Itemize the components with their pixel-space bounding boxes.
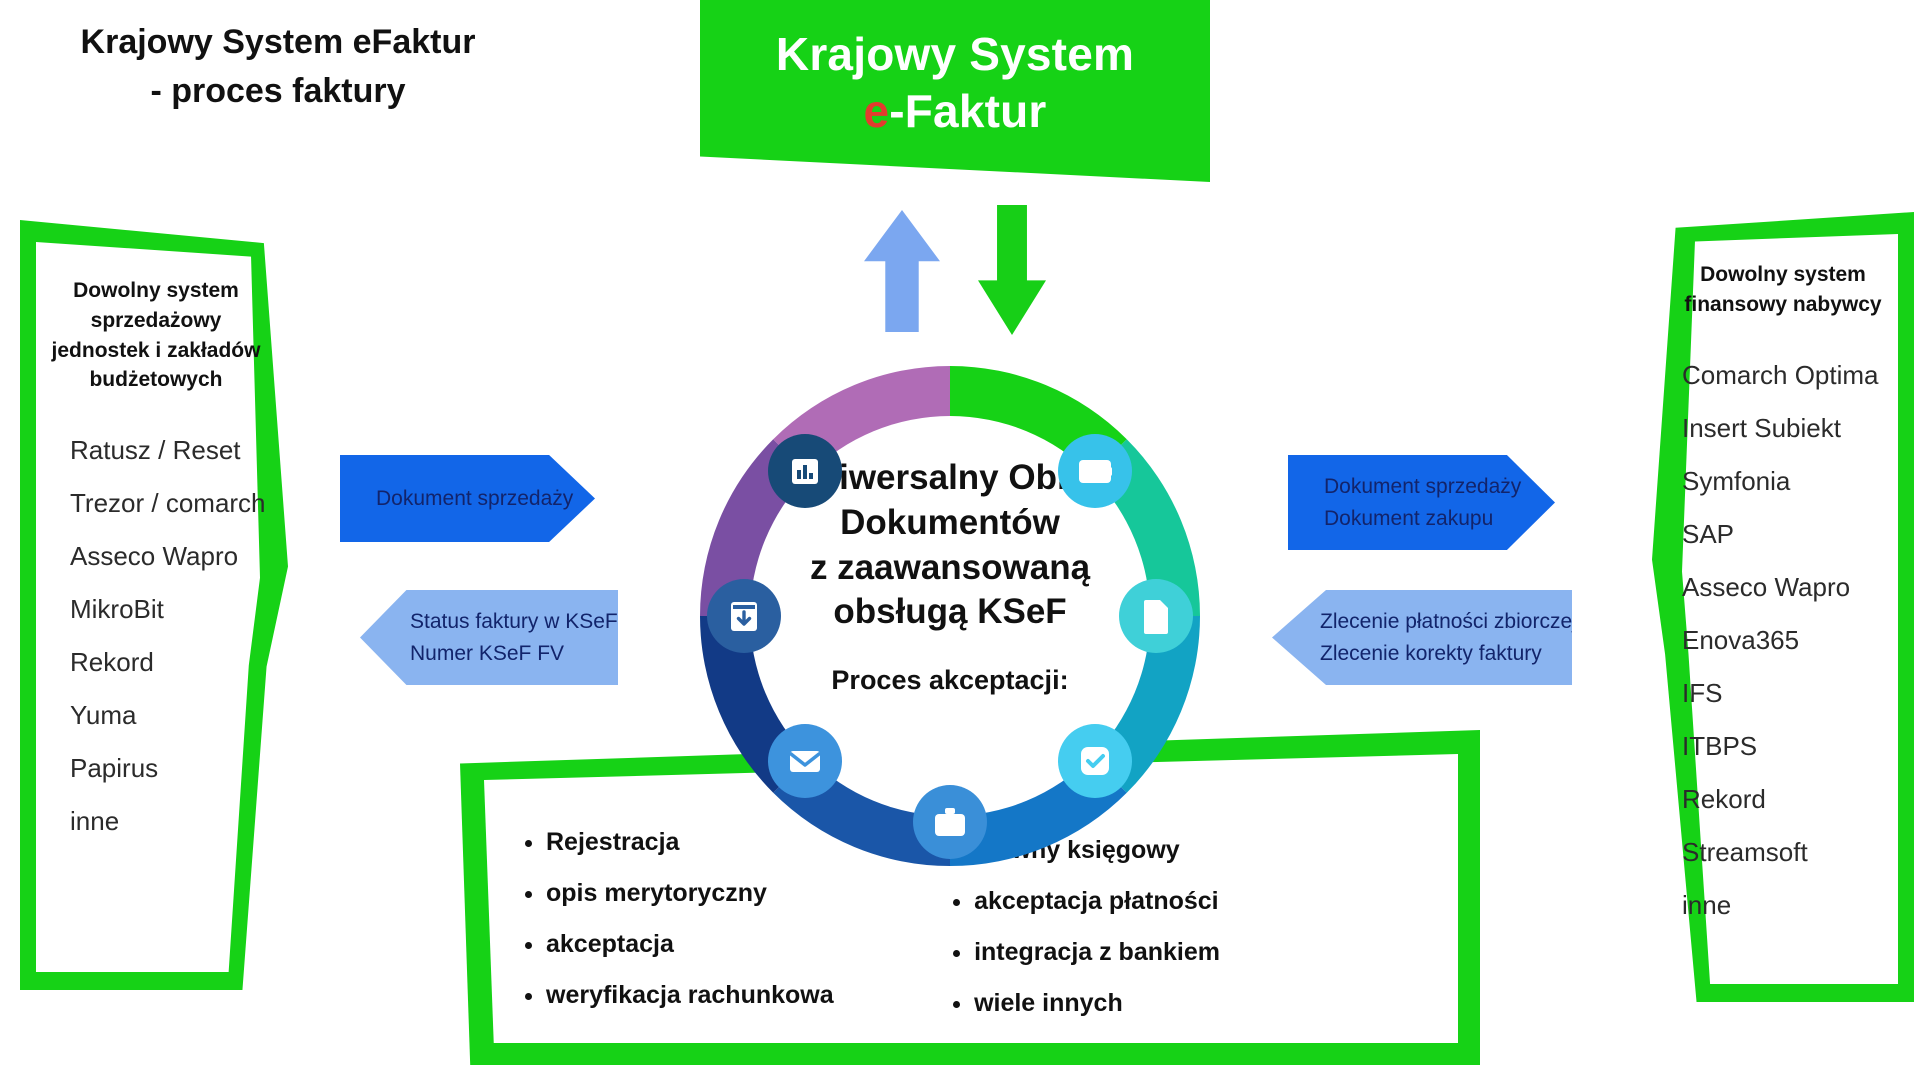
mail-icon — [768, 724, 842, 798]
document-icon — [1119, 579, 1193, 653]
list-item: Papirus — [70, 755, 272, 781]
list-item: Symfonia — [1682, 468, 1898, 494]
panel-finance-systems: Dowolny system finansowy nabywcy Comarch… — [1652, 212, 1914, 1002]
list-item: IFS — [1682, 680, 1898, 706]
arrow-documents-right: Dokument sprzedaży Dokument zakupu — [1288, 455, 1555, 550]
banner-faktur-text: -Faktur — [889, 85, 1046, 137]
banner-line-1: Krajowy System — [776, 26, 1134, 84]
panel-left-list: Ratusz / Reset Trezor / comarch Asseco W… — [70, 437, 272, 834]
page-title-line1: Krajowy System eFaktur — [81, 23, 476, 61]
list-item: Asseco Wapro — [70, 543, 272, 569]
inbox-download-icon — [707, 579, 781, 653]
list-item: Insert Subiekt — [1682, 415, 1898, 441]
arrow-invoice-status-left: Status faktury w KSeF Numer KSeF FV — [360, 590, 618, 685]
list-item: wiele innych — [974, 991, 1220, 1016]
arrow-sales-document-left: Dokument sprzedaży — [340, 455, 595, 542]
wallet-icon — [1058, 434, 1132, 508]
donut-title-line2: Dokumentów — [760, 501, 1140, 546]
list-item: Streamsoft — [1682, 839, 1898, 865]
page-title-line2: - proces faktury — [18, 67, 538, 116]
panel-left-heading: Dowolny system sprzedażowy jednostek i z… — [40, 276, 272, 395]
list-item: Trezor / comarch — [70, 490, 272, 516]
arrow-payment-order-right: Zlecenie płatności zbiorczej Zlecenie ko… — [1272, 590, 1572, 685]
list-item: akceptacja — [546, 932, 834, 957]
diagram-canvas: Krajowy System eFaktur - proces faktury … — [0, 0, 1920, 1080]
list-item: Comarch Optima — [1682, 362, 1898, 388]
arrow-text: Dokument sprzedaży — [1324, 471, 1555, 503]
list-item: SAP — [1682, 521, 1898, 547]
arrow-text: Dokument sprzedaży — [376, 483, 595, 515]
arrow-text: Dokument zakupu — [1324, 503, 1555, 535]
list-item: inne — [70, 808, 272, 834]
panel-right-heading: Dowolny system finansowy nabywcy — [1668, 260, 1898, 320]
arrow-text: Zlecenie płatności zbiorczej — [1320, 606, 1572, 638]
process-donut-chart: Uniwersalny Obieg Dokumentów z zaawansow… — [640, 306, 1260, 926]
arrow-text: Status faktury w KSeF — [410, 606, 618, 638]
arrow-text: Numer KSeF FV — [410, 638, 618, 670]
list-item: integracja z bankiem — [974, 940, 1220, 965]
banner-e-letter: e — [863, 85, 889, 137]
list-item: ITBPS — [1682, 733, 1898, 759]
bar-chart-icon — [768, 434, 842, 508]
list-item: Yuma — [70, 702, 272, 728]
list-item: Enova365 — [1682, 627, 1898, 653]
list-item: inne — [1682, 892, 1898, 918]
panel-sales-systems: Dowolny system sprzedażowy jednostek i z… — [20, 220, 288, 990]
donut-subtitle: Proces akceptacji: — [760, 665, 1140, 696]
page-title: Krajowy System eFaktur - proces faktury — [18, 18, 538, 117]
list-item: Rekord — [70, 649, 272, 675]
list-item: weryfikacja rachunkowa — [546, 983, 834, 1008]
banner-line-2: e-Faktur — [863, 83, 1046, 141]
list-item: Rekord — [1682, 786, 1898, 812]
donut-title-line4: obsługą KSeF — [760, 590, 1140, 635]
briefcase-icon — [913, 785, 987, 859]
list-item: Ratusz / Reset — [70, 437, 272, 463]
list-item: MikroBit — [70, 596, 272, 622]
panel-right-list: Comarch Optima Insert Subiekt Symfonia S… — [1682, 362, 1898, 918]
donut-title-line3: z zaawansowaną — [760, 546, 1140, 591]
ksef-banner: Krajowy System e-Faktur — [700, 0, 1210, 182]
list-item: Asseco Wapro — [1682, 574, 1898, 600]
arrow-text: Zlecenie korekty faktury — [1320, 638, 1572, 670]
